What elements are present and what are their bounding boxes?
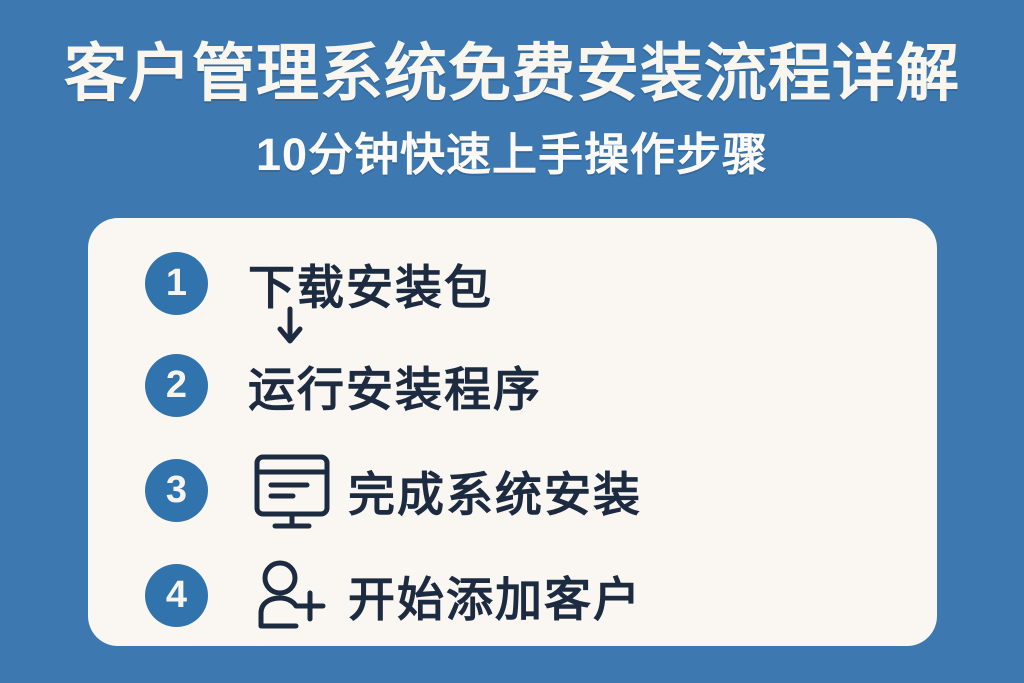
step-row-2: 2 运行安装程序: [88, 350, 937, 420]
steps-card: 1 下载安装包 2 运行安装程序 3: [88, 218, 937, 646]
step-badge-2: 2: [145, 354, 208, 417]
page-title: 客户管理系统免费安装流程详解: [0, 36, 1024, 112]
step-badge-4: 4: [145, 564, 208, 627]
step-row-4: 4 开始添加客户: [88, 560, 937, 630]
step-label-4: 开始添加客户: [348, 560, 642, 630]
desktop-monitor-icon: [251, 451, 333, 533]
user-plus-icon: [251, 556, 333, 638]
step-label-2: 运行安装程序: [248, 350, 542, 420]
poster-canvas: 客户管理系统免费安装流程详解 10分钟快速上手操作步骤 1 下载安装包 2 运行…: [0, 0, 1024, 683]
down-arrow-icon: [268, 306, 312, 350]
step-label-3: 完成系统安装: [348, 455, 642, 525]
step-row-3: 3 完成系统安装: [88, 455, 937, 525]
poster-header: 客户管理系统免费安装流程详解 10分钟快速上手操作步骤: [0, 0, 1024, 205]
step-badge-3: 3: [145, 459, 208, 522]
step-row-1: 1 下载安装包: [88, 248, 937, 318]
page-subtitle: 10分钟快速上手操作步骤: [0, 127, 1024, 183]
step-badge-1: 1: [145, 252, 208, 315]
